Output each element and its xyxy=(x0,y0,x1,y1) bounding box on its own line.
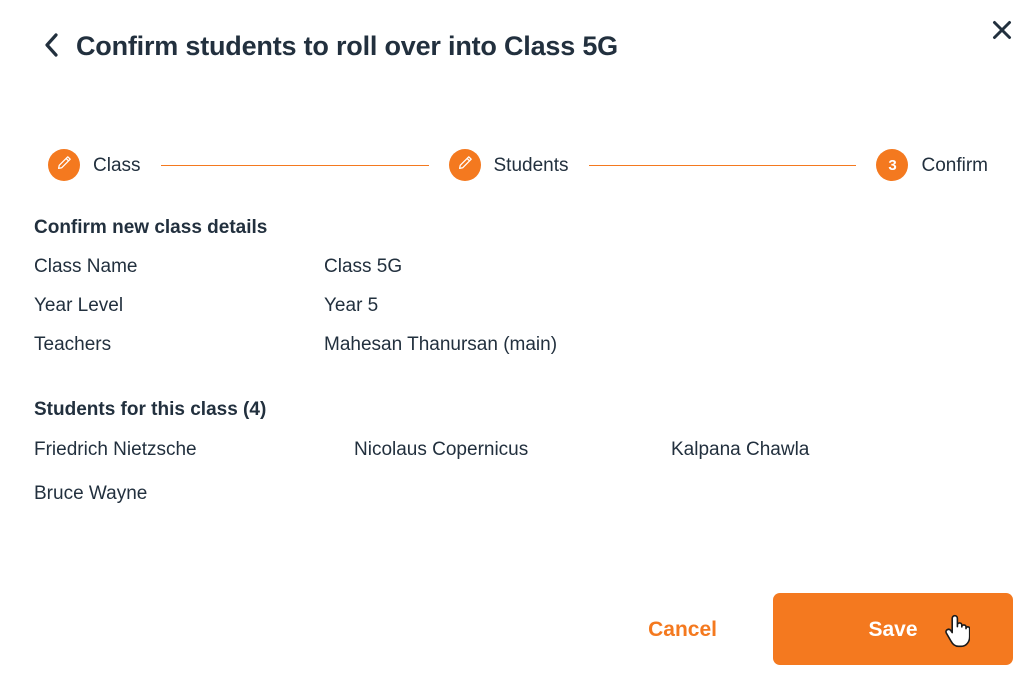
students-heading: Students for this class (4) xyxy=(34,400,266,419)
detail-row: Class Name Class 5G xyxy=(34,257,734,296)
detail-row: Year Level Year 5 xyxy=(34,296,734,335)
detail-value: Class 5G xyxy=(324,257,402,278)
detail-label: Year Level xyxy=(34,296,324,317)
close-icon xyxy=(991,19,1013,44)
step-class-circle xyxy=(48,149,80,181)
detail-value: Mahesan Thanursan (main) xyxy=(324,335,557,356)
step-confirm[interactable]: 3 Confirm xyxy=(876,149,988,181)
close-button[interactable] xyxy=(983,12,1021,50)
step-students-label: Students xyxy=(494,156,569,175)
detail-label: Class Name xyxy=(34,257,324,278)
chevron-left-icon xyxy=(41,31,61,62)
student-name: Kalpana Chawla xyxy=(671,440,934,461)
step-confirm-label: Confirm xyxy=(921,156,988,175)
detail-value: Year 5 xyxy=(324,296,378,317)
detail-row: Teachers Mahesan Thanursan (main) xyxy=(34,335,734,374)
detail-label: Teachers xyxy=(34,335,324,356)
step-students[interactable]: Students xyxy=(449,149,569,181)
back-button[interactable] xyxy=(34,29,68,63)
student-name: Bruce Wayne xyxy=(34,484,354,505)
save-button[interactable]: Save xyxy=(773,593,1013,665)
pencil-icon xyxy=(55,154,73,177)
student-name: Friedrich Nietzsche xyxy=(34,440,354,461)
pencil-icon xyxy=(456,154,474,177)
page-title: Confirm students to roll over into Class… xyxy=(76,33,618,60)
step-confirm-number: 3 xyxy=(888,158,896,173)
step-class-label: Class xyxy=(93,156,141,175)
class-details-heading: Confirm new class details xyxy=(34,218,267,237)
student-name: Nicolaus Copernicus xyxy=(354,440,671,461)
cancel-button[interactable]: Cancel xyxy=(630,609,735,650)
modal-header: Confirm students to roll over into Class… xyxy=(0,0,1033,92)
step-connector-2 xyxy=(589,165,857,166)
modal-footer: Cancel Save xyxy=(0,593,1033,665)
step-class[interactable]: Class xyxy=(48,149,141,181)
step-connector-1 xyxy=(161,165,429,166)
stepper: Class Students 3 Confirm xyxy=(48,148,988,182)
step-confirm-circle: 3 xyxy=(876,149,908,181)
step-students-circle xyxy=(449,149,481,181)
class-details-list: Class Name Class 5G Year Level Year 5 Te… xyxy=(34,257,734,374)
students-grid: Friedrich Nietzsche Nicolaus Copernicus … xyxy=(34,440,934,505)
